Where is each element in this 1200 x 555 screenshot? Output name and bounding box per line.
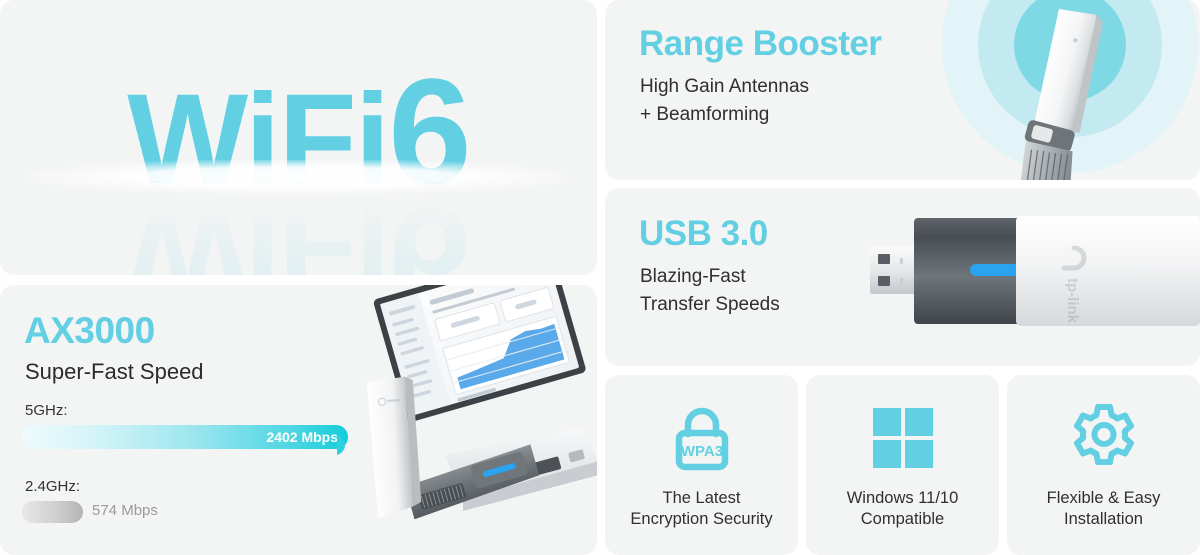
wpa3-badge-text: WPA3 (680, 443, 722, 460)
gear-icon (1007, 401, 1200, 475)
wifi6-wordmark-reflection: WiFi6 (0, 186, 597, 275)
panel-ax3000: AX3000 Super-Fast Speed 5GHz: 2402 Mbps … (0, 285, 597, 555)
band-label-5ghz: 5GHz: (25, 402, 68, 419)
range-booster-line-1: High Gain Antennas (640, 76, 809, 98)
feature-card-label-installation: Flexible & Easy Installation (1015, 488, 1192, 530)
label-line-2: Encryption Security (630, 510, 772, 528)
speed-bar-5ghz: 2402 Mbps (22, 425, 348, 449)
windows-logo-icon (806, 401, 999, 475)
label-line-2: Compatible (861, 510, 944, 528)
range-booster-illustration (910, 0, 1200, 180)
usb-adapter-illustration: tp-link (870, 188, 1200, 366)
usb30-line-1: Blazing-Fast (640, 266, 746, 288)
label-line-1: Flexible & Easy (1047, 489, 1161, 507)
product-feature-board: WiFi6 WiFi6 AX3000 Super-Fast Speed 5GHz… (0, 0, 1200, 555)
speed-value-5ghz: 2402 Mbps (266, 425, 338, 449)
speed-value-24ghz: 574 Mbps (92, 500, 158, 522)
speed-bar-24ghz (22, 501, 83, 523)
range-booster-title: Range Booster (639, 24, 881, 64)
lock-wpa3-icon: WPA3 (605, 401, 798, 475)
panel-range-booster: Range Booster High Gain Antennas + Beamf… (605, 0, 1200, 180)
panel-usb30: USB 3.0 Blazing-Fast Transfer Speeds (605, 188, 1200, 366)
feature-card-label-windows: Windows 11/10 Compatible (814, 488, 991, 530)
feature-card-windows[interactable]: Windows 11/10 Compatible (806, 375, 999, 555)
label-line-2: Installation (1064, 510, 1143, 528)
band-label-24ghz: 2.4GHz: (25, 478, 80, 495)
panel-wifi6: WiFi6 WiFi6 (0, 0, 597, 275)
wifi6-artwork: WiFi6 WiFi6 (0, 0, 597, 275)
wifi6-glow-band (30, 160, 567, 194)
range-booster-line-2: + Beamforming (640, 104, 769, 126)
laptop-with-adapter-illustration (337, 285, 597, 555)
usb30-line-2: Transfer Speeds (640, 294, 780, 316)
label-line-1: Windows 11/10 (847, 489, 959, 507)
feature-card-installation[interactable]: Flexible & Easy Installation (1007, 375, 1200, 555)
label-line-1: The Latest (663, 489, 741, 507)
feature-card-label-encryption: The Latest Encryption Security (613, 488, 790, 530)
ax3000-subtitle: Super-Fast Speed (25, 359, 204, 385)
ax3000-title: AX3000 (24, 310, 155, 352)
usb30-title: USB 3.0 (639, 214, 768, 254)
wifi6-word-reflection: WiFi (127, 181, 388, 275)
tp-link-logo-text: tp-link (1064, 278, 1081, 324)
feature-card-encryption[interactable]: WPA3 The Latest Encryption Security (605, 375, 798, 555)
